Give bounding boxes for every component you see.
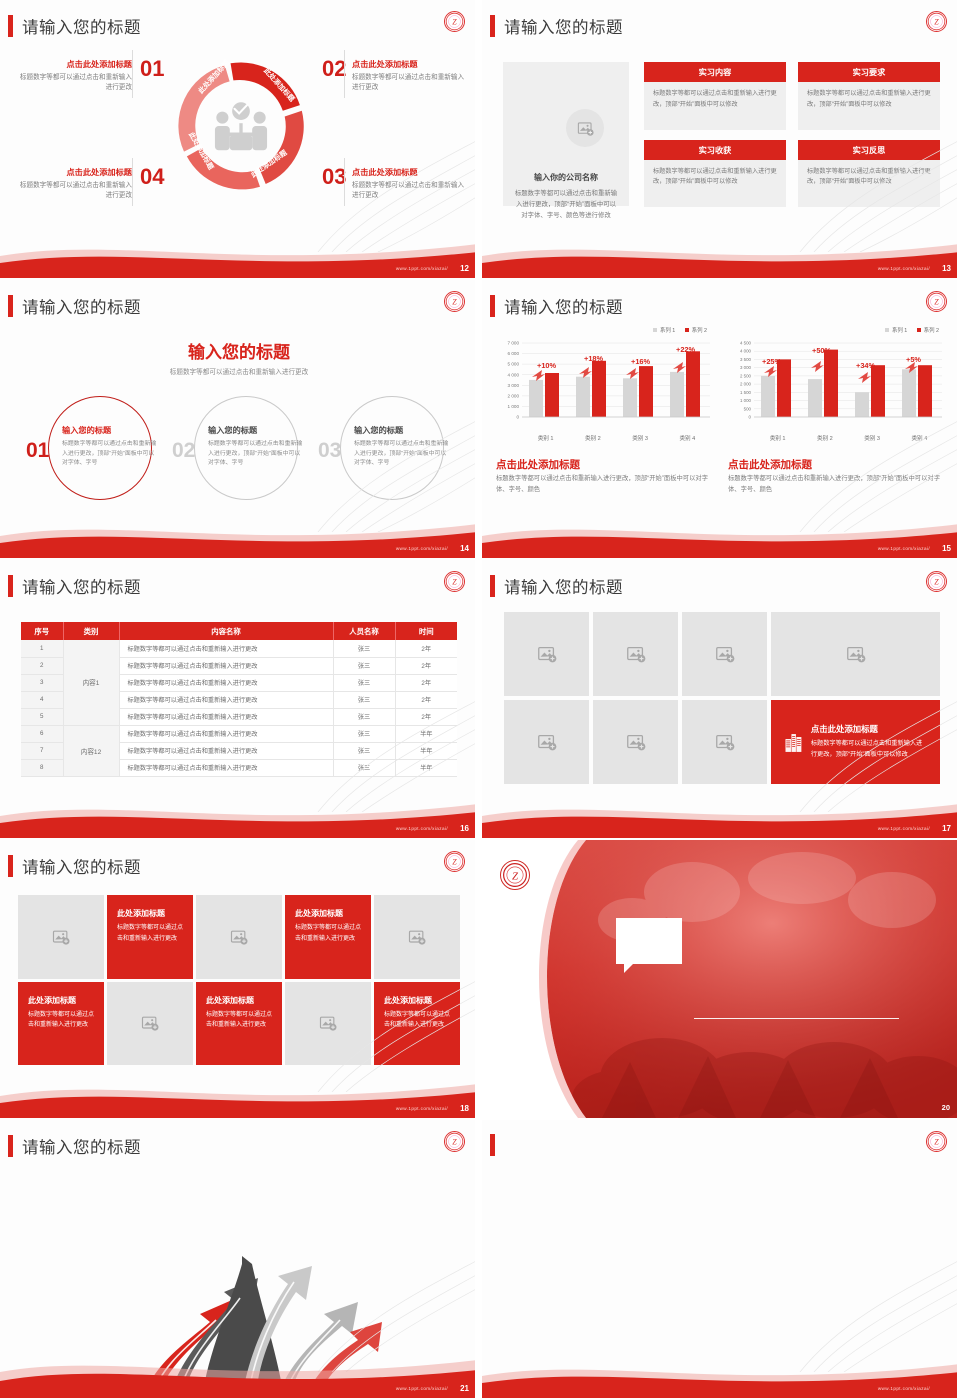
item-body: 标题数字等都可以通过点击和重新输入进行更改	[14, 73, 132, 93]
cell-content-name: 标题数字等都可以通过点击和重新输入进行更改	[119, 742, 333, 759]
background-photo	[482, 840, 960, 1118]
image-placeholder-1[interactable]	[504, 612, 589, 696]
slide-number: 12	[460, 264, 469, 273]
card-head: 此处添加标题	[28, 995, 95, 1006]
slide-right-edge	[475, 840, 478, 1118]
schedule-table[interactable]: 序号 类别 内容名称 人员名称 时间 1内容1标题数字等都可以通过点击和重新输入…	[21, 622, 457, 777]
section-number-badge	[616, 918, 682, 964]
company-body-text: 标题数字等都可以通过点击和重新输入进行更改，顶部“开始”面板中可以对字体、字号、…	[513, 188, 619, 221]
svg-text:Z: Z	[934, 18, 939, 27]
slide-title	[490, 1134, 504, 1156]
cell-person-name: 张三	[333, 725, 395, 742]
x-tick: 类别 4	[896, 434, 943, 442]
title-accent-bar	[8, 15, 13, 37]
col-content-name: 内容名称	[119, 622, 333, 640]
cell-time: 2年	[395, 674, 457, 691]
card-head: 实习反思	[798, 140, 940, 160]
card-head: 实习收获	[644, 140, 786, 160]
building-icon	[785, 724, 802, 760]
image-placeholder-icon	[845, 643, 867, 665]
teamwork-icon	[204, 92, 278, 160]
arrow-block-4[interactable]	[22, 1242, 149, 1247]
chart-2-caption-head: 点击此处添加标题	[728, 457, 812, 472]
school-seal-icon: Z	[444, 11, 465, 32]
arrow-block-3[interactable]	[322, 1166, 449, 1171]
cell-content-name: 标题数字等都可以通过点击和重新输入进行更改	[119, 674, 333, 691]
cell-content-name: 标题数字等都可以通过点击和重新输入进行更改	[119, 657, 333, 674]
item-body: 标题数字等都可以通过点击和重新输入进行更改	[14, 181, 132, 201]
chart-2-legend: 系列 1 系列 2	[885, 326, 939, 334]
footer-url: www.1ppt.com/xiazai/	[396, 1386, 448, 1391]
circle-row: 01 输入您的标题 标题数字等都可以通过点击和重新输入进行更改，顶部“开始”面板…	[24, 396, 454, 506]
title-accent-bar	[490, 1134, 495, 1156]
bar-chart-2[interactable]: 系列 1 系列 2 4 5004 0003 500 3 0002 5002 00…	[728, 326, 943, 456]
image-placeholder-5[interactable]	[504, 700, 589, 784]
chart-2-plot: 4 5004 0003 500 3 0002 5002 000 1 5001 0…	[728, 339, 943, 433]
chart-2-annotation-1: +25%	[762, 357, 782, 366]
card-internship-gain[interactable]: 实习收获 标题数字等都可以通过点击和重新输入进行更改，顶部“开始”面板中可以修改	[644, 140, 786, 208]
school-seal-icon: Z	[926, 571, 947, 592]
cell-time: 2年	[395, 708, 457, 725]
slide-right-edge	[475, 280, 478, 558]
card-internship-content[interactable]: 实习内容 标题数字等都可以通过点击和重新输入进行更改，顶部“开始”面板中可以修改	[644, 62, 786, 130]
svg-text:Z: Z	[452, 18, 457, 27]
cell-person-name: 张三	[333, 657, 395, 674]
chart-2-annotation-2: +50%	[812, 346, 832, 355]
card-head: 点击此处添加标题	[811, 723, 928, 735]
svg-text:Z: Z	[512, 870, 519, 882]
footer-url: www.1ppt.com/xiazai/	[396, 826, 448, 831]
item-head: 点击此处添加标题	[14, 58, 132, 70]
card-head: 此处添加标题	[384, 995, 451, 1006]
item-body: 标题数字等都可以通过点击和重新输入进行更改，顶部“开始”面板中可以对字体、字号	[208, 440, 304, 469]
col-time: 时间	[395, 622, 457, 640]
chart-1-plot: 7 0006 0005 000 4 0003 0002 000 1 0000	[496, 339, 711, 433]
chart-1-caption-head: 点击此处添加标题	[496, 457, 580, 472]
slide-number: 14	[460, 544, 469, 553]
cell-time: 2年	[395, 691, 457, 708]
svg-text:1 500: 1 500	[740, 390, 752, 395]
col-index: 序号	[21, 622, 63, 640]
cell-index: 3	[21, 674, 63, 691]
item-head: 输入您的标题	[354, 424, 450, 436]
slide-13-company-cards[interactable]: 请输入您的标题 Z 输入你的公司名称 标题数字等都可以通过点击和重新输入进行更改…	[482, 0, 960, 278]
school-seal-icon: Z	[444, 291, 465, 312]
footer-wave	[482, 512, 960, 558]
legend-series-1: 系列 1	[660, 326, 675, 334]
slide-right-edge	[475, 560, 478, 838]
image-placeholder-2[interactable]	[593, 612, 678, 696]
footer-url: www.1ppt.com/xiazai/	[396, 1106, 448, 1111]
school-seal-icon: Z	[444, 1131, 465, 1152]
image-placeholder-9[interactable]	[285, 982, 371, 1066]
image-placeholder-5[interactable]	[374, 895, 460, 979]
cell-person-name: 张三	[333, 742, 395, 759]
item-body: 标题数字等都可以通过点击和重新输入进行更改，顶部“开始”面板中可以对字体、字号	[354, 440, 450, 469]
slide-12-cycle-diagram[interactable]: 请输入您的标题 Z	[0, 0, 478, 278]
cell-index: 7	[21, 742, 63, 759]
svg-text:Z: Z	[934, 298, 939, 307]
school-seal-icon: Z	[926, 1131, 947, 1152]
divider	[132, 158, 133, 206]
slide-number: 13	[942, 264, 951, 273]
slide-16-data-table[interactable]: 请输入您的标题 Z 序号 类别 内容名称 人员名称 时间 1内容1标题数字等都可…	[0, 560, 478, 838]
slide-title: 请输入您的标题	[490, 294, 623, 318]
svg-text:500: 500	[744, 406, 752, 411]
image-placeholder-icon[interactable]	[566, 109, 604, 147]
slide-thumbnail-grid: 请输入您的标题 Z	[0, 0, 960, 1400]
image-placeholder-icon	[714, 643, 736, 665]
title-accent-bar	[490, 15, 495, 37]
cycle-number-04: 04	[140, 164, 164, 190]
svg-text:3 500: 3 500	[740, 357, 752, 362]
footer-wave	[482, 1352, 960, 1398]
divider	[344, 50, 345, 98]
x-tick: 类别 3	[849, 434, 896, 442]
card-head: 此处添加标题	[206, 995, 273, 1006]
chart-1-annotation-3: +16%	[631, 357, 651, 366]
image-placeholder-icon	[625, 643, 647, 665]
item-head: 点击此处添加标题	[352, 166, 470, 178]
svg-text:6 000: 6 000	[508, 351, 520, 356]
card-head: 实习内容	[644, 62, 786, 82]
title-accent-bar	[8, 575, 13, 597]
image-placeholder-3[interactable]	[682, 612, 767, 696]
card-body: 标题数字等都可以通过点击和重新输入进行更改	[28, 1010, 95, 1031]
company-panel[interactable]: 输入你的公司名称 标题数字等都可以通过点击和重新输入进行更改，顶部“开始”面板中…	[503, 62, 629, 206]
slide-title: 请输入您的标题	[490, 574, 623, 598]
title-accent-bar	[8, 295, 13, 317]
legend-series-2: 系列 2	[692, 326, 707, 334]
school-seal-icon: Z	[926, 11, 947, 32]
x-tick: 类别 2	[801, 434, 848, 442]
item-head: 输入您的标题	[62, 424, 158, 436]
divider	[132, 50, 133, 98]
footer-wave	[0, 1352, 478, 1398]
svg-text:4 000: 4 000	[740, 349, 752, 354]
footer-wave	[0, 1072, 478, 1118]
cell-index: 8	[21, 759, 63, 776]
slide-right-edge	[475, 0, 478, 278]
image-placeholder-icon	[407, 927, 427, 947]
svg-text:Z: Z	[934, 578, 939, 587]
card-body: 标题数字等都可以通过点击和重新输入进行更改	[384, 1010, 451, 1031]
slide-18-checkerboard[interactable]: 请输入您的标题 Z 此处添加标题标题数字等都可以通过点击和重新输入进行更改此处添…	[0, 840, 478, 1118]
title-accent-bar	[490, 295, 495, 317]
cycle-number-01: 01	[140, 56, 164, 82]
school-seal-icon: Z	[926, 291, 947, 312]
footer-url: www.1ppt.com/xiazai/	[878, 1386, 930, 1391]
footer-url: www.1ppt.com/xiazai/	[396, 546, 448, 551]
svg-text:2 500: 2 500	[740, 373, 752, 378]
circle-number: 02	[172, 439, 195, 463]
slide-number: 20	[942, 1103, 950, 1112]
image-placeholder-icon	[714, 731, 736, 753]
item-body: 标题数字等都可以通过点击和重新输入进行更改，顶部“开始”面板中可以对字体、字号	[62, 440, 158, 469]
card-body: 标题数字等都可以通过点击和重新输入进行更改	[206, 1010, 273, 1031]
image-placeholder-7[interactable]	[682, 700, 767, 784]
cell-content-name: 标题数字等都可以通过点击和重新输入进行更改	[119, 691, 333, 708]
center-headline: 输入您的标题	[0, 338, 478, 363]
svg-text:Z: Z	[452, 298, 457, 307]
center-subline: 标题数字等都可以通过点击和重新输入进行更改	[0, 366, 478, 376]
footer-wave	[482, 792, 960, 838]
text-card-5[interactable]: 此处添加标题标题数字等都可以通过点击和重新输入进行更改	[374, 982, 460, 1066]
image-placeholder-icon	[625, 731, 647, 753]
legend-series-1: 系列 1	[892, 326, 907, 334]
card-body: 标题数字等都可以通过点击和重新输入进行更改，顶部“开始”面板中可以修改	[644, 82, 786, 130]
x-tick: 类别 1	[754, 434, 801, 442]
slide-number: 21	[460, 1384, 469, 1393]
svg-text:Z: Z	[452, 578, 457, 587]
arrow-block-1[interactable]	[22, 1166, 149, 1171]
image-placeholder-icon	[318, 1013, 338, 1033]
svg-text:0: 0	[749, 415, 752, 420]
slide-number: 18	[460, 1104, 469, 1113]
image-placeholder-icon	[229, 927, 249, 947]
slide-title: 请输入您的标题	[8, 294, 141, 318]
slide-21-four-circles[interactable]: Z www.1ppt.com/xiazai/	[482, 1120, 960, 1398]
cell-category: 内容1	[63, 640, 119, 725]
slide-14-three-circles[interactable]: 请输入您的标题 Z 输入您的标题 标题数字等都可以通过点击和重新输入进行更改 0…	[0, 280, 478, 558]
cycle-diagram: 此处添加标题 此处添加标题 此处添加标题 此处添加标题 01 02 03 04 …	[0, 44, 478, 229]
slide-title: 请输入您的标题	[8, 14, 141, 38]
image-placeholder-icon	[536, 731, 558, 753]
x-tick: 类别 4	[664, 434, 711, 442]
svg-text:3 000: 3 000	[508, 383, 520, 388]
school-seal-icon: Z	[444, 571, 465, 592]
slide-title: 请输入您的标题	[8, 1134, 141, 1158]
text-card-2[interactable]: 此处添加标题标题数字等都可以通过点击和重新输入进行更改	[285, 895, 371, 979]
table-header-row: 序号 类别 内容名称 人员名称 时间	[21, 622, 457, 640]
svg-text:7 000: 7 000	[508, 341, 520, 346]
svg-text:Z: Z	[934, 1138, 939, 1147]
chart-1-x-labels: 类别 1 类别 2 类别 3 类别 4	[522, 434, 711, 442]
card-body: 标题数字等都可以通过点击和重新输入进行更改，顶部“开始”面板中可以修改	[798, 160, 940, 208]
image-placeholder-7[interactable]	[107, 982, 193, 1066]
footer-url: www.1ppt.com/xiazai/	[878, 546, 930, 551]
title-accent-bar	[490, 575, 495, 597]
item-head: 输入您的标题	[208, 424, 304, 436]
arrow-block-2[interactable]	[176, 1170, 303, 1175]
svg-text:2 000: 2 000	[508, 394, 520, 399]
card-body: 标题数字等都可以通过点击和重新输入进行更改	[295, 923, 362, 944]
svg-text:1 000: 1 000	[508, 404, 520, 409]
cell-content-name: 标题数字等都可以通过点击和重新输入进行更改	[119, 759, 333, 776]
footer-url: www.1ppt.com/xiazai/	[878, 266, 930, 271]
cycle-item-01[interactable]: 点击此处添加标题 标题数字等都可以通过点击和重新输入进行更改	[14, 58, 132, 93]
item-body: 标题数字等都可以通过点击和重新输入进行更改	[352, 181, 470, 201]
cell-index: 5	[21, 708, 63, 725]
svg-text:Z: Z	[452, 858, 457, 867]
svg-text:4 000: 4 000	[508, 372, 520, 377]
item-head: 点击此处添加标题	[352, 58, 470, 70]
cell-person-name: 张三	[333, 708, 395, 725]
cell-content-name: 标题数字等都可以通过点击和重新输入进行更改	[119, 725, 333, 742]
image-placeholder-icon	[140, 1013, 160, 1033]
cell-time: 半年	[395, 759, 457, 776]
text-card-4[interactable]: 此处添加标题标题数字等都可以通过点击和重新输入进行更改	[196, 982, 282, 1066]
cycle-number-03: 03	[322, 164, 346, 190]
card-head: 此处添加标题	[117, 908, 184, 919]
circle-item-01[interactable]: 01 输入您的标题 标题数字等都可以通过点击和重新输入进行更改，顶部“开始”面板…	[24, 396, 172, 504]
card-body: 标题数字等都可以通过点击和重新输入进行更改，顶部“开始”面板中可以修改	[811, 739, 928, 760]
svg-text:2 000: 2 000	[740, 382, 752, 387]
svg-text:4 500: 4 500	[740, 341, 752, 346]
footer-url: www.1ppt.com/xiazai/	[878, 826, 930, 831]
cell-person-name: 张三	[333, 674, 395, 691]
col-category: 类别	[63, 622, 119, 640]
cell-time: 2年	[395, 640, 457, 657]
footer-wave	[0, 232, 478, 278]
cell-index: 1	[21, 640, 63, 657]
image-placeholder-3[interactable]	[196, 895, 282, 979]
cell-category: 内容12	[63, 725, 119, 776]
title-accent-bar	[8, 1135, 13, 1157]
footer-wave	[0, 512, 478, 558]
slide-number: 16	[460, 824, 469, 833]
chart-1-annotation-1: +10%	[537, 361, 557, 370]
checkerboard-grid: 此处添加标题标题数字等都可以通过点击和重新输入进行更改此处添加标题标题数字等都可…	[18, 895, 460, 1065]
slide-15-bar-charts[interactable]: 请输入您的标题 Z 系列 1 系列 2 7 0006 0005 000 4 00	[482, 280, 960, 558]
slide-right-edge	[475, 1120, 478, 1398]
image-placeholder-icon	[51, 927, 71, 947]
chart-2-x-labels: 类别 1 类别 2 类别 3 类别 4	[754, 434, 943, 442]
slide-title: 请输入您的标题	[8, 854, 141, 878]
divider-rule	[694, 1018, 899, 1019]
image-placeholder-4[interactable]	[771, 612, 940, 696]
cell-index: 2	[21, 657, 63, 674]
cell-content-name: 标题数字等都可以通过点击和重新输入进行更改	[119, 640, 333, 657]
x-tick: 类别 3	[617, 434, 664, 442]
cell-index: 6	[21, 725, 63, 742]
internship-cards: 实习内容 标题数字等都可以通过点击和重新输入进行更改，顶部“开始”面板中可以修改…	[644, 62, 940, 207]
cycle-number-02: 02	[322, 56, 346, 82]
chart-2-annotation-3: +34%	[856, 361, 876, 370]
cell-index: 4	[21, 691, 63, 708]
item-body: 标题数字等都可以通过点击和重新输入进行更改	[352, 73, 470, 93]
x-tick: 类别 2	[569, 434, 616, 442]
circle-item-02[interactable]: 02 输入您的标题 标题数字等都可以通过点击和重新输入进行更改，顶部“开始”面板…	[170, 396, 318, 504]
chart-1-caption-body: 标题数字等都可以通过点击和重新输入进行更改，顶部“开始”面板中可以对字体、字号、…	[496, 473, 714, 495]
chart-1-annotation-2: +18%	[584, 354, 604, 363]
cycle-item-02[interactable]: 点击此处添加标题 标题数字等都可以通过点击和重新输入进行更改	[352, 58, 470, 93]
cell-time: 2年	[395, 657, 457, 674]
arrow-block-5[interactable]	[322, 1250, 449, 1255]
cell-person-name: 张三	[333, 691, 395, 708]
text-card-1[interactable]: 此处添加标题标题数字等都可以通过点击和重新输入进行更改	[107, 895, 193, 979]
chart-1-annotation-4: +22%	[676, 345, 696, 354]
school-seal-icon: Z	[500, 860, 530, 890]
legend-series-2: 系列 2	[924, 326, 939, 334]
card-body: 标题数字等都可以通过点击和重新输入进行更改，顶部“开始”面板中可以修改	[798, 82, 940, 130]
table-row[interactable]: 6内容12标题数字等都可以通过点击和重新输入进行更改张三半年	[21, 725, 457, 742]
slide-19-section-divider[interactable]: Z 20	[482, 840, 960, 1118]
card-head: 实习要求	[798, 62, 940, 82]
chart-2-caption-body: 标题数字等都可以通过点击和重新输入进行更改，顶部“开始”面板中可以对字体、字号、…	[728, 473, 946, 495]
footer-wave	[0, 792, 478, 838]
photo-grid: 点击此处添加标题 标题数字等都可以通过点击和重新输入进行更改，顶部“开始”面板中…	[504, 612, 940, 788]
cell-content-name: 标题数字等都可以通过点击和重新输入进行更改	[119, 708, 333, 725]
svg-text:3 000: 3 000	[740, 365, 752, 370]
slide-title: 请输入您的标题	[490, 14, 623, 38]
circle-item-03[interactable]: 03 输入您的标题 标题数字等都可以通过点击和重新输入进行更改，顶部“开始”面板…	[316, 396, 464, 504]
circle-number: 01	[26, 439, 49, 463]
chart-2-annotation-4: +5%	[906, 355, 921, 364]
slide-number: 17	[942, 824, 951, 833]
table-row[interactable]: 1内容1标题数字等都可以通过点击和重新输入进行更改张三2年	[21, 640, 457, 657]
col-person-name: 人员名称	[333, 622, 395, 640]
bar-chart-1[interactable]: 系列 1 系列 2 7 0006 0005 000 4 0003 0002 00…	[496, 326, 711, 456]
card-body: 标题数字等都可以通过点击和重新输入进行更改	[117, 923, 184, 944]
divider	[344, 158, 345, 206]
svg-text:5 000: 5 000	[508, 362, 520, 367]
slide-17-photo-grid[interactable]: 请输入您的标题 Z	[482, 560, 960, 838]
cycle-item-03[interactable]: 点击此处添加标题 标题数字等都可以通过点击和重新输入进行更改	[352, 166, 470, 201]
svg-text:0: 0	[516, 415, 519, 420]
card-body: 标题数字等都可以通过点击和重新输入进行更改，顶部“开始”面板中可以修改	[644, 160, 786, 208]
image-placeholder-6[interactable]	[593, 700, 678, 784]
card-head: 此处添加标题	[295, 908, 362, 919]
chart-1-legend: 系列 1 系列 2	[653, 326, 707, 334]
image-placeholder-1[interactable]	[18, 895, 104, 979]
circle-number: 03	[318, 439, 341, 463]
cycle-item-04[interactable]: 点击此处添加标题 标题数字等都可以通过点击和重新输入进行更改	[14, 166, 132, 201]
image-placeholder-icon	[536, 643, 558, 665]
text-card-3[interactable]: 此处添加标题标题数字等都可以通过点击和重新输入进行更改	[18, 982, 104, 1066]
slide-number: 15	[942, 544, 951, 553]
cell-time: 半年	[395, 742, 457, 759]
company-name-label: 输入你的公司名称	[503, 172, 629, 183]
svg-text:Z: Z	[452, 1138, 457, 1147]
title-accent-bar	[8, 855, 13, 877]
svg-text:1 000: 1 000	[740, 398, 752, 403]
school-seal-icon: Z	[444, 851, 465, 872]
item-head: 点击此处添加标题	[14, 166, 132, 178]
cell-person-name: 张三	[333, 759, 395, 776]
red-highlight-card[interactable]: 点击此处添加标题 标题数字等都可以通过点击和重新输入进行更改，顶部“开始”面板中…	[771, 700, 940, 784]
x-tick: 类别 1	[522, 434, 569, 442]
footer-wave	[482, 232, 960, 278]
card-internship-requirement[interactable]: 实习要求 标题数字等都可以通过点击和重新输入进行更改，顶部“开始”面板中可以修改	[798, 62, 940, 130]
cell-person-name: 张三	[333, 640, 395, 657]
footer-url: www.1ppt.com/xiazai/	[396, 266, 448, 271]
slide-20-arrow-infographic[interactable]: 请输入您的标题 Z	[0, 1120, 478, 1398]
slide-title: 请输入您的标题	[8, 574, 141, 598]
card-internship-reflection[interactable]: 实习反思 标题数字等都可以通过点击和重新输入进行更改，顶部“开始”面板中可以修改	[798, 140, 940, 208]
cell-time: 半年	[395, 725, 457, 742]
